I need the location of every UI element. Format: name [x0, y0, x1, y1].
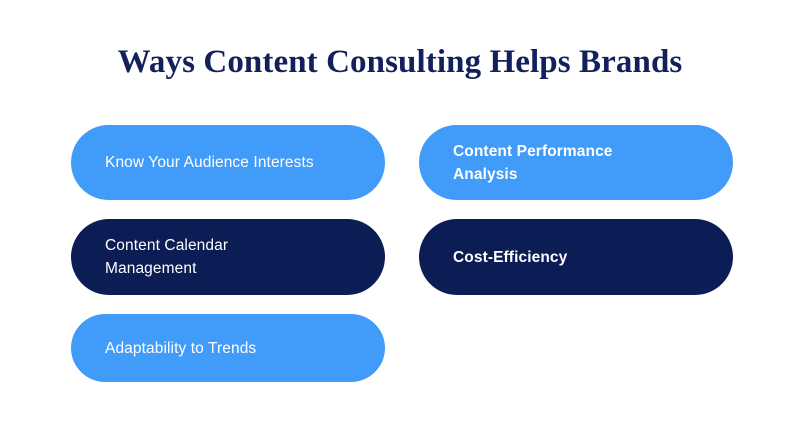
pill-label: Know Your Audience Interests	[105, 151, 314, 174]
pill-item-content-calendar-management[interactable]: Content Calendar Management	[71, 219, 385, 295]
pill-item-know-your-audience-interests[interactable]: Know Your Audience Interests	[71, 125, 385, 200]
pill-label: Cost-Efficiency	[453, 246, 567, 269]
pill-item-content-performance-analysis[interactable]: Content Performance Analysis	[419, 125, 733, 200]
pill-label: Content Performance Analysis	[453, 140, 668, 186]
pill-column-left: Know Your Audience Interests Content Cal…	[71, 125, 385, 401]
pill-column-right: Content Performance Analysis Cost-Effici…	[419, 125, 733, 314]
pill-label: Adaptability to Trends	[105, 337, 256, 360]
pill-label: Content Calendar Management	[105, 234, 320, 280]
pill-item-cost-efficiency[interactable]: Cost-Efficiency	[419, 219, 733, 295]
infographic-canvas: Ways Content Consulting Helps Brands Kno…	[0, 0, 800, 443]
pill-grid: Know Your Audience Interests Content Cal…	[0, 0, 800, 443]
pill-item-adaptability-to-trends[interactable]: Adaptability to Trends	[71, 314, 385, 382]
